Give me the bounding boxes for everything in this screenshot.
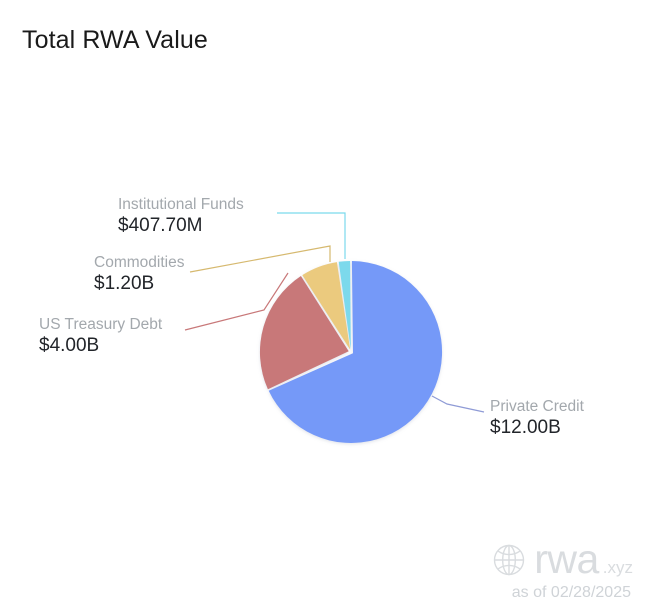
leader-line-institutional-funds [277,213,345,259]
callout-value-institutional-funds: $407.70M [118,215,244,236]
callout-private-credit[interactable]: Private Credit $12.00B [490,398,584,439]
callout-institutional-funds[interactable]: Institutional Funds $407.70M [118,196,244,237]
watermark-tld: .xyz [603,559,633,580]
watermark-brand: rwa .xyz [490,539,633,580]
watermark-wordmark: rwa [534,539,599,580]
watermark-as-of-date: as of 02/28/2025 [490,584,633,602]
callout-value-private-credit: $12.00B [490,417,584,438]
pie-chart-svg [0,0,651,616]
callout-us-treasury-debt[interactable]: US Treasury Debt $4.00B [39,316,162,357]
leader-line-commodities [190,246,330,272]
callout-label-us-treasury-debt: US Treasury Debt [39,316,162,333]
callout-value-commodities: $1.20B [94,273,184,294]
leader-line-private-credit [432,396,484,412]
rwa-value-pie-chart: Total RWA Value Institutional Funds $407… [0,0,651,616]
callout-label-private-credit: Private Credit [490,398,584,415]
callout-label-institutional-funds: Institutional Funds [118,196,244,213]
watermark: rwa .xyz as of 02/28/2025 [490,539,633,602]
callout-label-commodities: Commodities [94,254,184,271]
callout-commodities[interactable]: Commodities $1.20B [94,254,184,295]
globe-icon [490,541,528,579]
callout-value-us-treasury-debt: $4.00B [39,335,162,356]
